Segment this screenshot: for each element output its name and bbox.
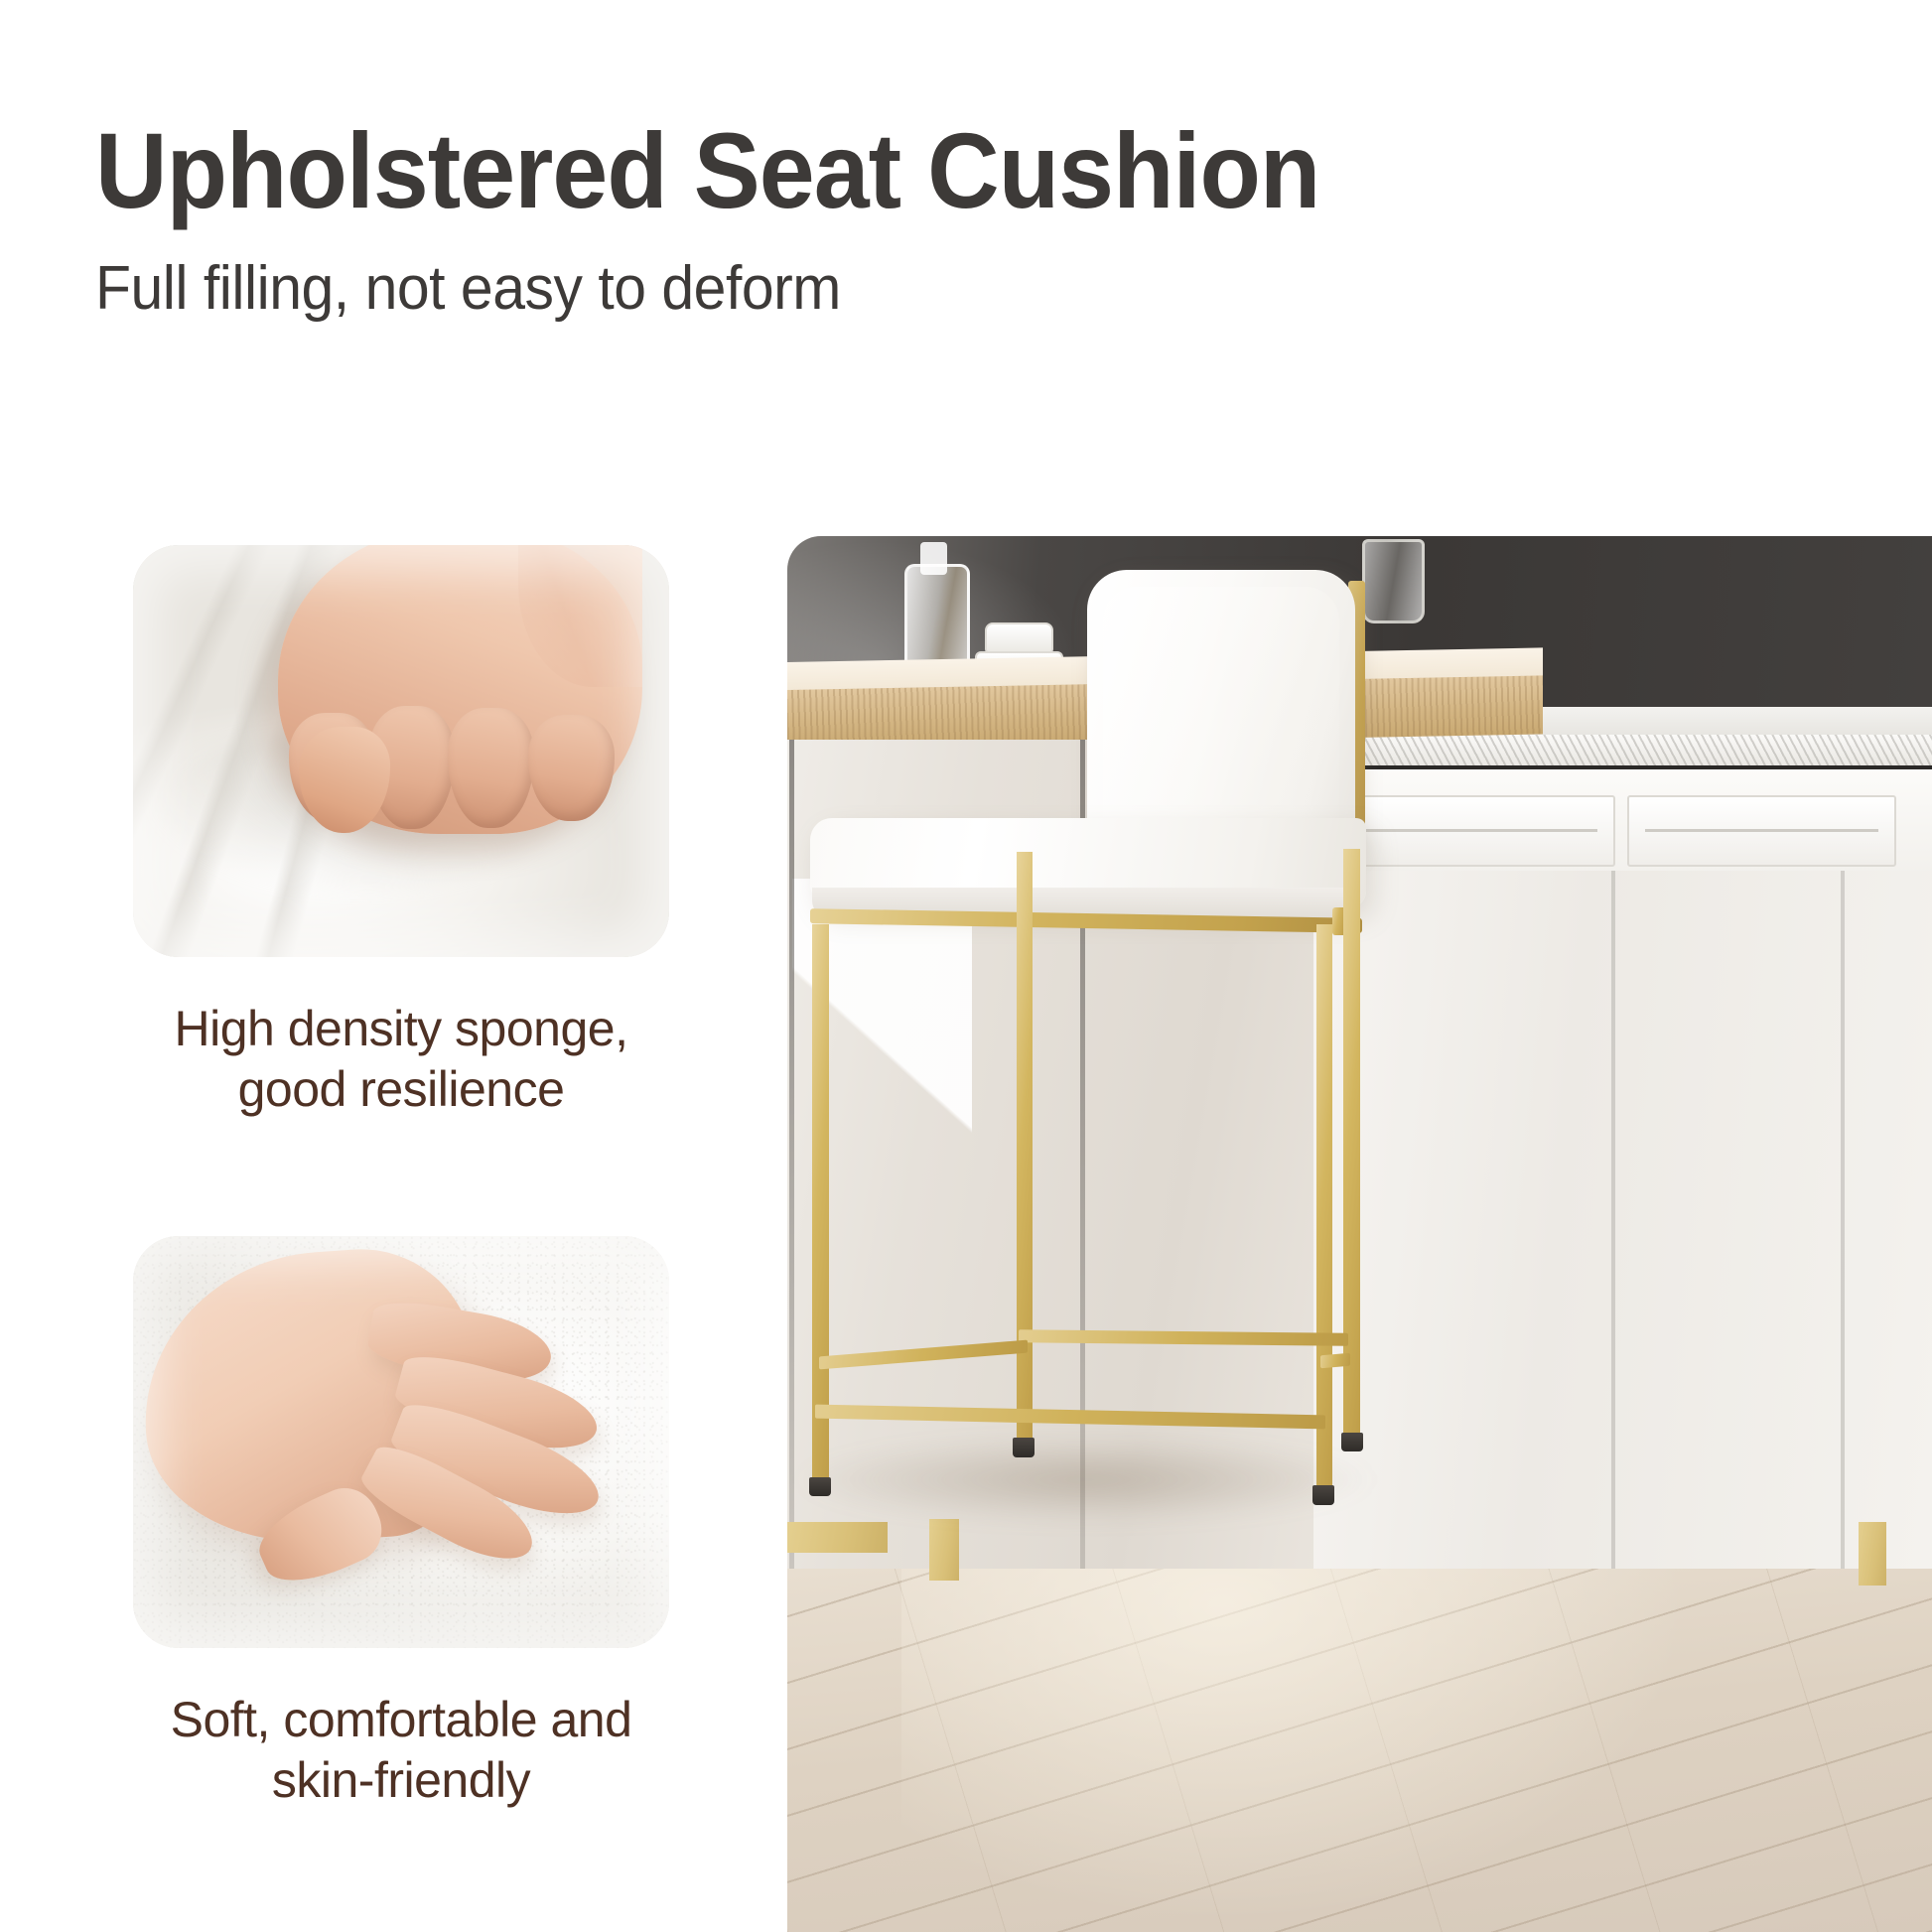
page-subtitle: Full filling, not easy to deform <box>95 258 1699 320</box>
backrest-highlight <box>1103 587 1338 835</box>
gold-leg-back-right <box>1343 849 1360 1436</box>
upholstered-backrest <box>1087 570 1355 852</box>
counter-stool <box>787 536 1932 1932</box>
gold-leg-front-right <box>1316 924 1333 1488</box>
black-foot-cap <box>809 1477 831 1497</box>
feature-caption: Soft, comfortable and skin-friendly <box>133 1690 669 1811</box>
open-hand-on-foam-photo <box>133 1236 669 1648</box>
knuckle <box>528 715 615 821</box>
black-foot-cap <box>1341 1433 1363 1452</box>
gold-leg-front-left <box>812 924 829 1480</box>
wrist-highlight <box>518 545 642 687</box>
black-foot-cap <box>1013 1438 1035 1457</box>
stool-floor-shadow <box>799 1438 1372 1521</box>
feature-soft-skin-friendly: Soft, comfortable and skin-friendly <box>133 1236 669 1811</box>
gold-footrest-bar <box>815 1405 1325 1430</box>
feature-high-density-sponge: High density sponge, good resilience <box>133 545 669 1120</box>
fist-pressing-cushion-photo <box>133 545 669 957</box>
gold-side-stretcher-left <box>819 1340 1028 1370</box>
gold-back-stretcher <box>1019 1330 1348 1346</box>
page-title: Upholstered Seat Cushion <box>95 117 1665 224</box>
knuckle <box>448 708 534 828</box>
gold-side-stretcher-right <box>1320 1353 1350 1368</box>
feature-caption-line-2: skin-friendly <box>133 1750 669 1811</box>
feature-caption-line-2: good resilience <box>133 1059 669 1120</box>
header-block: Upholstered Seat Cushion Full filling, n… <box>95 117 1783 320</box>
feature-caption: High density sponge, good resilience <box>133 999 669 1120</box>
feature-caption-line-1: Soft, comfortable and <box>133 1690 669 1750</box>
black-foot-cap <box>1312 1485 1334 1505</box>
feature-caption-line-1: High density sponge, <box>133 999 669 1059</box>
main-product-photo <box>787 536 1932 1932</box>
